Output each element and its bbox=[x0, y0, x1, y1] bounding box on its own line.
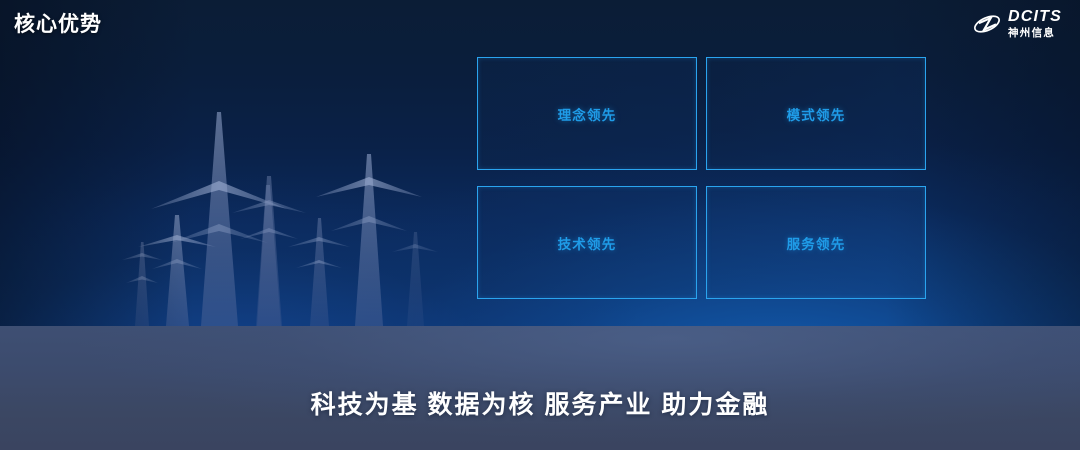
advantage-card-2[interactable]: 模式领先 bbox=[706, 57, 926, 170]
slide-root: 核心优势 DCITS 神州信息 理念领先 模式领先 技术领先 服务领先 科 bbox=[0, 0, 1080, 450]
advantage-card-grid: 理念领先 模式领先 技术领先 服务领先 bbox=[477, 57, 926, 299]
brand-logo: DCITS 神州信息 bbox=[972, 9, 1062, 39]
logo-name-cn: 神州信息 bbox=[1008, 28, 1055, 39]
slogan-text: 科技为基 数据为核 服务产业 助力金融 bbox=[0, 385, 1080, 421]
dcits-swoosh-icon bbox=[972, 11, 1002, 37]
advantage-card-4-label: 服务领先 bbox=[787, 233, 846, 253]
advantage-card-3-label: 技术领先 bbox=[558, 233, 617, 253]
advantage-card-2-label: 模式领先 bbox=[787, 104, 846, 124]
page-title: 核心优势 bbox=[14, 8, 102, 38]
advantage-card-1[interactable]: 理念领先 bbox=[477, 57, 697, 170]
advantage-card-3[interactable]: 技术领先 bbox=[477, 186, 697, 299]
advantage-card-4[interactable]: 服务领先 bbox=[706, 186, 926, 299]
logo-name-en: DCITS bbox=[1008, 9, 1062, 25]
advantage-card-1-label: 理念领先 bbox=[558, 104, 617, 124]
logo-wordmark: DCITS 神州信息 bbox=[1008, 9, 1062, 39]
